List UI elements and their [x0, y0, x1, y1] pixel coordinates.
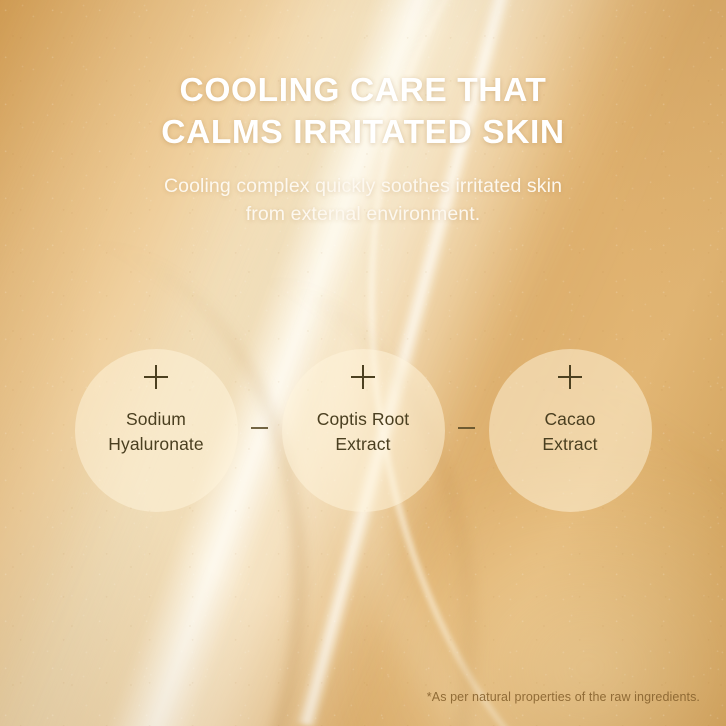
headline-line-2: CALMS IRRITATED SKIN [0, 112, 726, 154]
ingredient-name-line-1: Sodium [108, 407, 203, 432]
content-layer: COOLING CARE THAT CALMS IRRITATED SKIN C… [0, 0, 726, 726]
ingredient-connector-2 [445, 349, 489, 512]
subtitle: Cooling complex quickly soothes irritate… [0, 172, 726, 228]
subtitle-line-2: from external environment. [0, 200, 726, 228]
ingredient-label: Sodium Hyaluronate [108, 407, 203, 457]
ingredient-name-line-2: Hyaluronate [108, 432, 203, 457]
ingredient-name-line-2: Extract [542, 432, 597, 457]
ingredient-name-line-1: Coptis Root [317, 407, 410, 432]
ingredient-circle-sodium-hyaluronate: Sodium Hyaluronate [75, 349, 238, 512]
plus-icon [558, 365, 582, 389]
ingredient-label: Coptis Root Extract [317, 407, 410, 457]
subtitle-line-1: Cooling complex quickly soothes irritate… [0, 172, 726, 200]
headline-line-1: COOLING CARE THAT [0, 70, 726, 112]
ingredient-connector-1 [238, 349, 282, 512]
ingredient-list: Sodium Hyaluronate Coptis Root Extract C… [0, 348, 726, 512]
ingredient-label: Cacao Extract [542, 407, 597, 457]
ingredient-name-line-2: Extract [317, 432, 410, 457]
ingredient-circle-coptis-root-extract: Coptis Root Extract [282, 349, 445, 512]
plus-icon [144, 365, 168, 389]
plus-icon [351, 365, 375, 389]
ingredient-circle-cacao-extract: Cacao Extract [489, 349, 652, 512]
promo-graphic: COOLING CARE THAT CALMS IRRITATED SKIN C… [0, 0, 726, 726]
ingredient-name-line-1: Cacao [542, 407, 597, 432]
footnote: *As per natural properties of the raw in… [427, 690, 700, 704]
page-title: COOLING CARE THAT CALMS IRRITATED SKIN [0, 70, 726, 154]
